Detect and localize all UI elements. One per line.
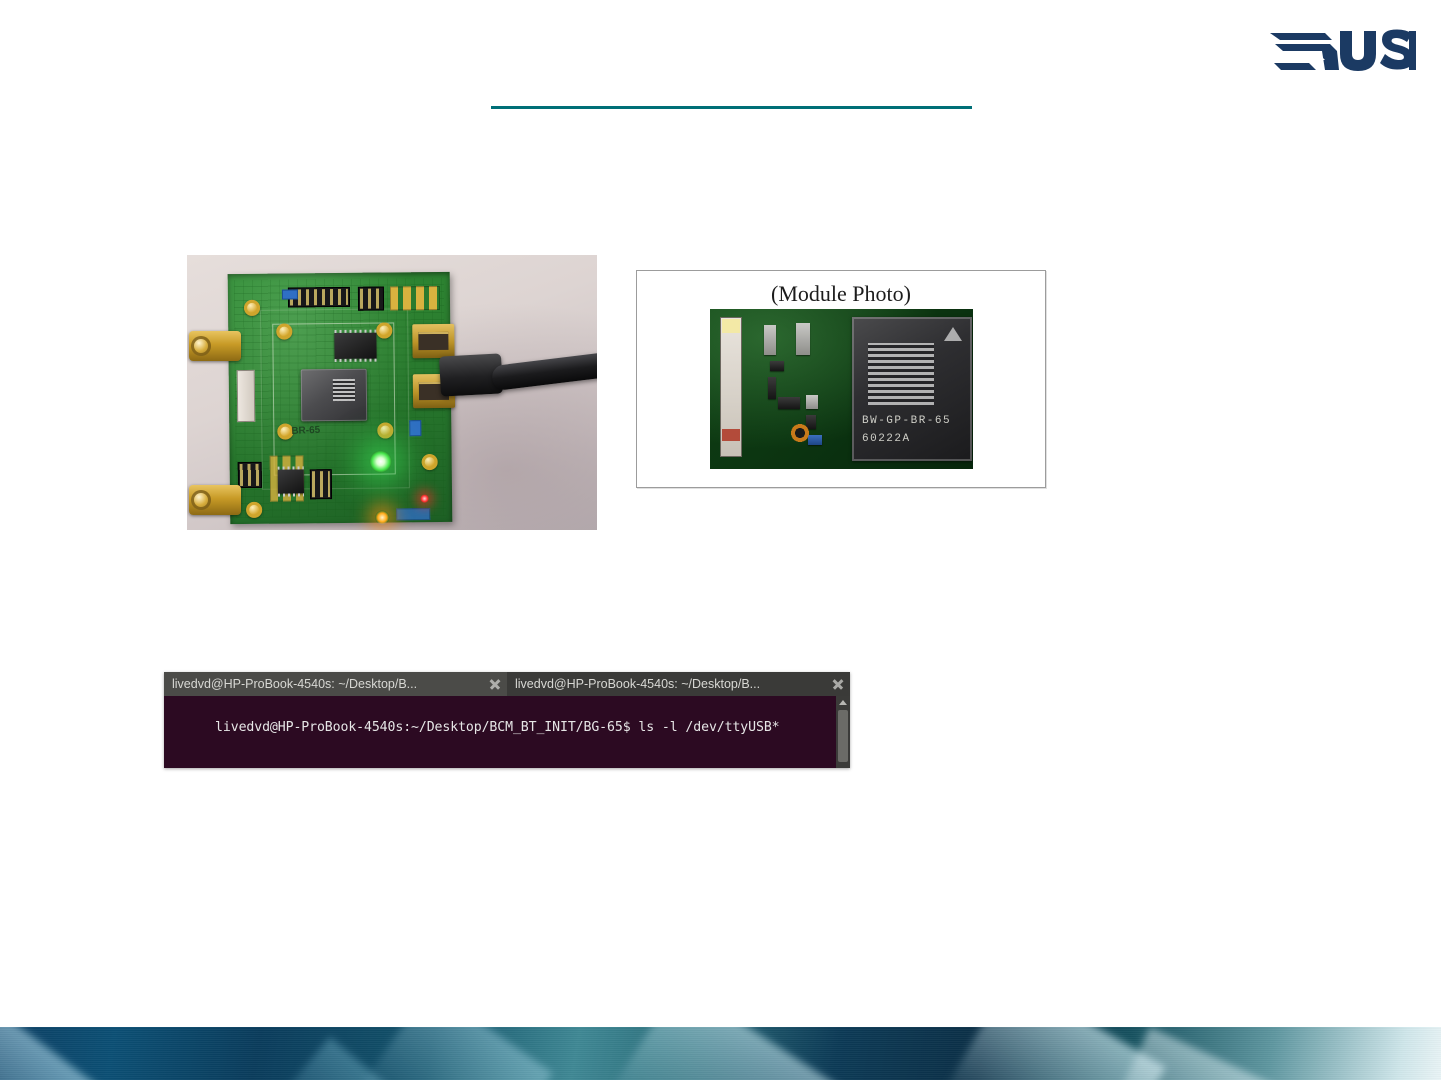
close-icon[interactable] (487, 676, 503, 692)
module-smd-3 (770, 361, 784, 371)
mount-hole-br (377, 422, 393, 438)
qfp-chip (334, 333, 376, 359)
terminal-scrollbar[interactable] (836, 696, 850, 768)
usi-logo: ® (1266, 22, 1416, 74)
terminal-tab-1-title: livedvd@HP-ProBook-4540s: ~/Desktop/B... (172, 677, 483, 691)
blue-component-3 (396, 508, 430, 520)
module-qr-code (333, 379, 355, 401)
terminal-window[interactable]: livedvd@HP-ProBook-4540s: ~/Desktop/B...… (164, 672, 850, 768)
module-photo-image: BW-GP-BR-65 60222A (710, 309, 973, 469)
footer-decorative-band (0, 1027, 1441, 1080)
module-smd-1 (764, 325, 776, 355)
header-pins-top-2 (358, 287, 384, 311)
mount-hole-corner-tl (244, 300, 260, 316)
gold-pads-top (390, 286, 440, 311)
usb-port-top (412, 324, 454, 358)
terminal-tab-2[interactable]: livedvd@HP-ProBook-4540s: ~/Desktop/B... (507, 672, 850, 696)
module-shield-qr-code (868, 343, 934, 405)
module-smd-6 (806, 395, 818, 409)
module-shield-lot-code: 60222A (862, 433, 911, 445)
evaluation-board-photo: BR-65 (187, 255, 597, 530)
sma-connector-top (189, 331, 241, 361)
mount-hole-tl (276, 323, 292, 339)
esd-triangle-icon (944, 327, 962, 341)
terminal-tab-2-title: livedvd@HP-ProBook-4540s: ~/Desktop/B... (515, 677, 826, 691)
fpc-connector (237, 370, 256, 422)
header-pins-bottom-left (238, 462, 262, 488)
blue-component-1 (282, 289, 298, 299)
qfn-chip (278, 469, 304, 493)
title-underline-rule (491, 106, 972, 109)
mount-hole-tr (376, 322, 392, 338)
led-orange (375, 510, 389, 524)
terminal-tab-1[interactable]: livedvd@HP-ProBook-4540s: ~/Desktop/B... (164, 672, 507, 696)
band-noise-texture (0, 1027, 1441, 1080)
module-fpc-connector (720, 317, 742, 457)
module-photo-panel: (Module Photo) BW-GP-BR-65 60222A (636, 270, 1046, 488)
scroll-up-arrow-icon[interactable] (839, 700, 847, 705)
module-rf-shield: BW-GP-BR-65 60222A (852, 317, 972, 461)
module-smd-4 (768, 377, 776, 399)
module-pad-ring (788, 421, 812, 445)
close-icon[interactable] (830, 676, 846, 692)
sma-connector-bottom (189, 485, 241, 515)
led-red (420, 494, 429, 503)
module-smd-5 (778, 397, 800, 409)
module-photo-caption: (Module Photo) (637, 281, 1045, 307)
terminal-line: livedvd@HP-ProBook-4540s:~/Desktop/BCM_B… (168, 699, 850, 756)
led-green (370, 450, 392, 472)
mount-hole-corner-br (422, 454, 438, 470)
pcb-board: BR-65 (228, 272, 453, 524)
terminal-output-area[interactable]: livedvd@HP-ProBook-4540s:~/Desktop/BCM_B… (164, 696, 850, 768)
rf-shield-module (301, 369, 368, 422)
scrollbar-thumb[interactable] (838, 710, 848, 762)
terminal-tab-bar: livedvd@HP-ProBook-4540s: ~/Desktop/B...… (164, 672, 850, 696)
mount-hole-corner-bl (246, 502, 262, 518)
header-pins-bottom-mid (310, 469, 332, 499)
terminal-segment: livedvd@HP-ProBook-4540s:~/Desktop/BCM_B… (215, 720, 779, 735)
terminal-line: crw-rw---- 1 root dialout 188, 0 2013-02… (168, 756, 850, 768)
blue-component-2 (409, 420, 421, 436)
module-smd-2 (796, 323, 810, 355)
module-shield-part-number: BW-GP-BR-65 (862, 415, 951, 427)
silkscreen-label: BR-65 (291, 425, 320, 437)
